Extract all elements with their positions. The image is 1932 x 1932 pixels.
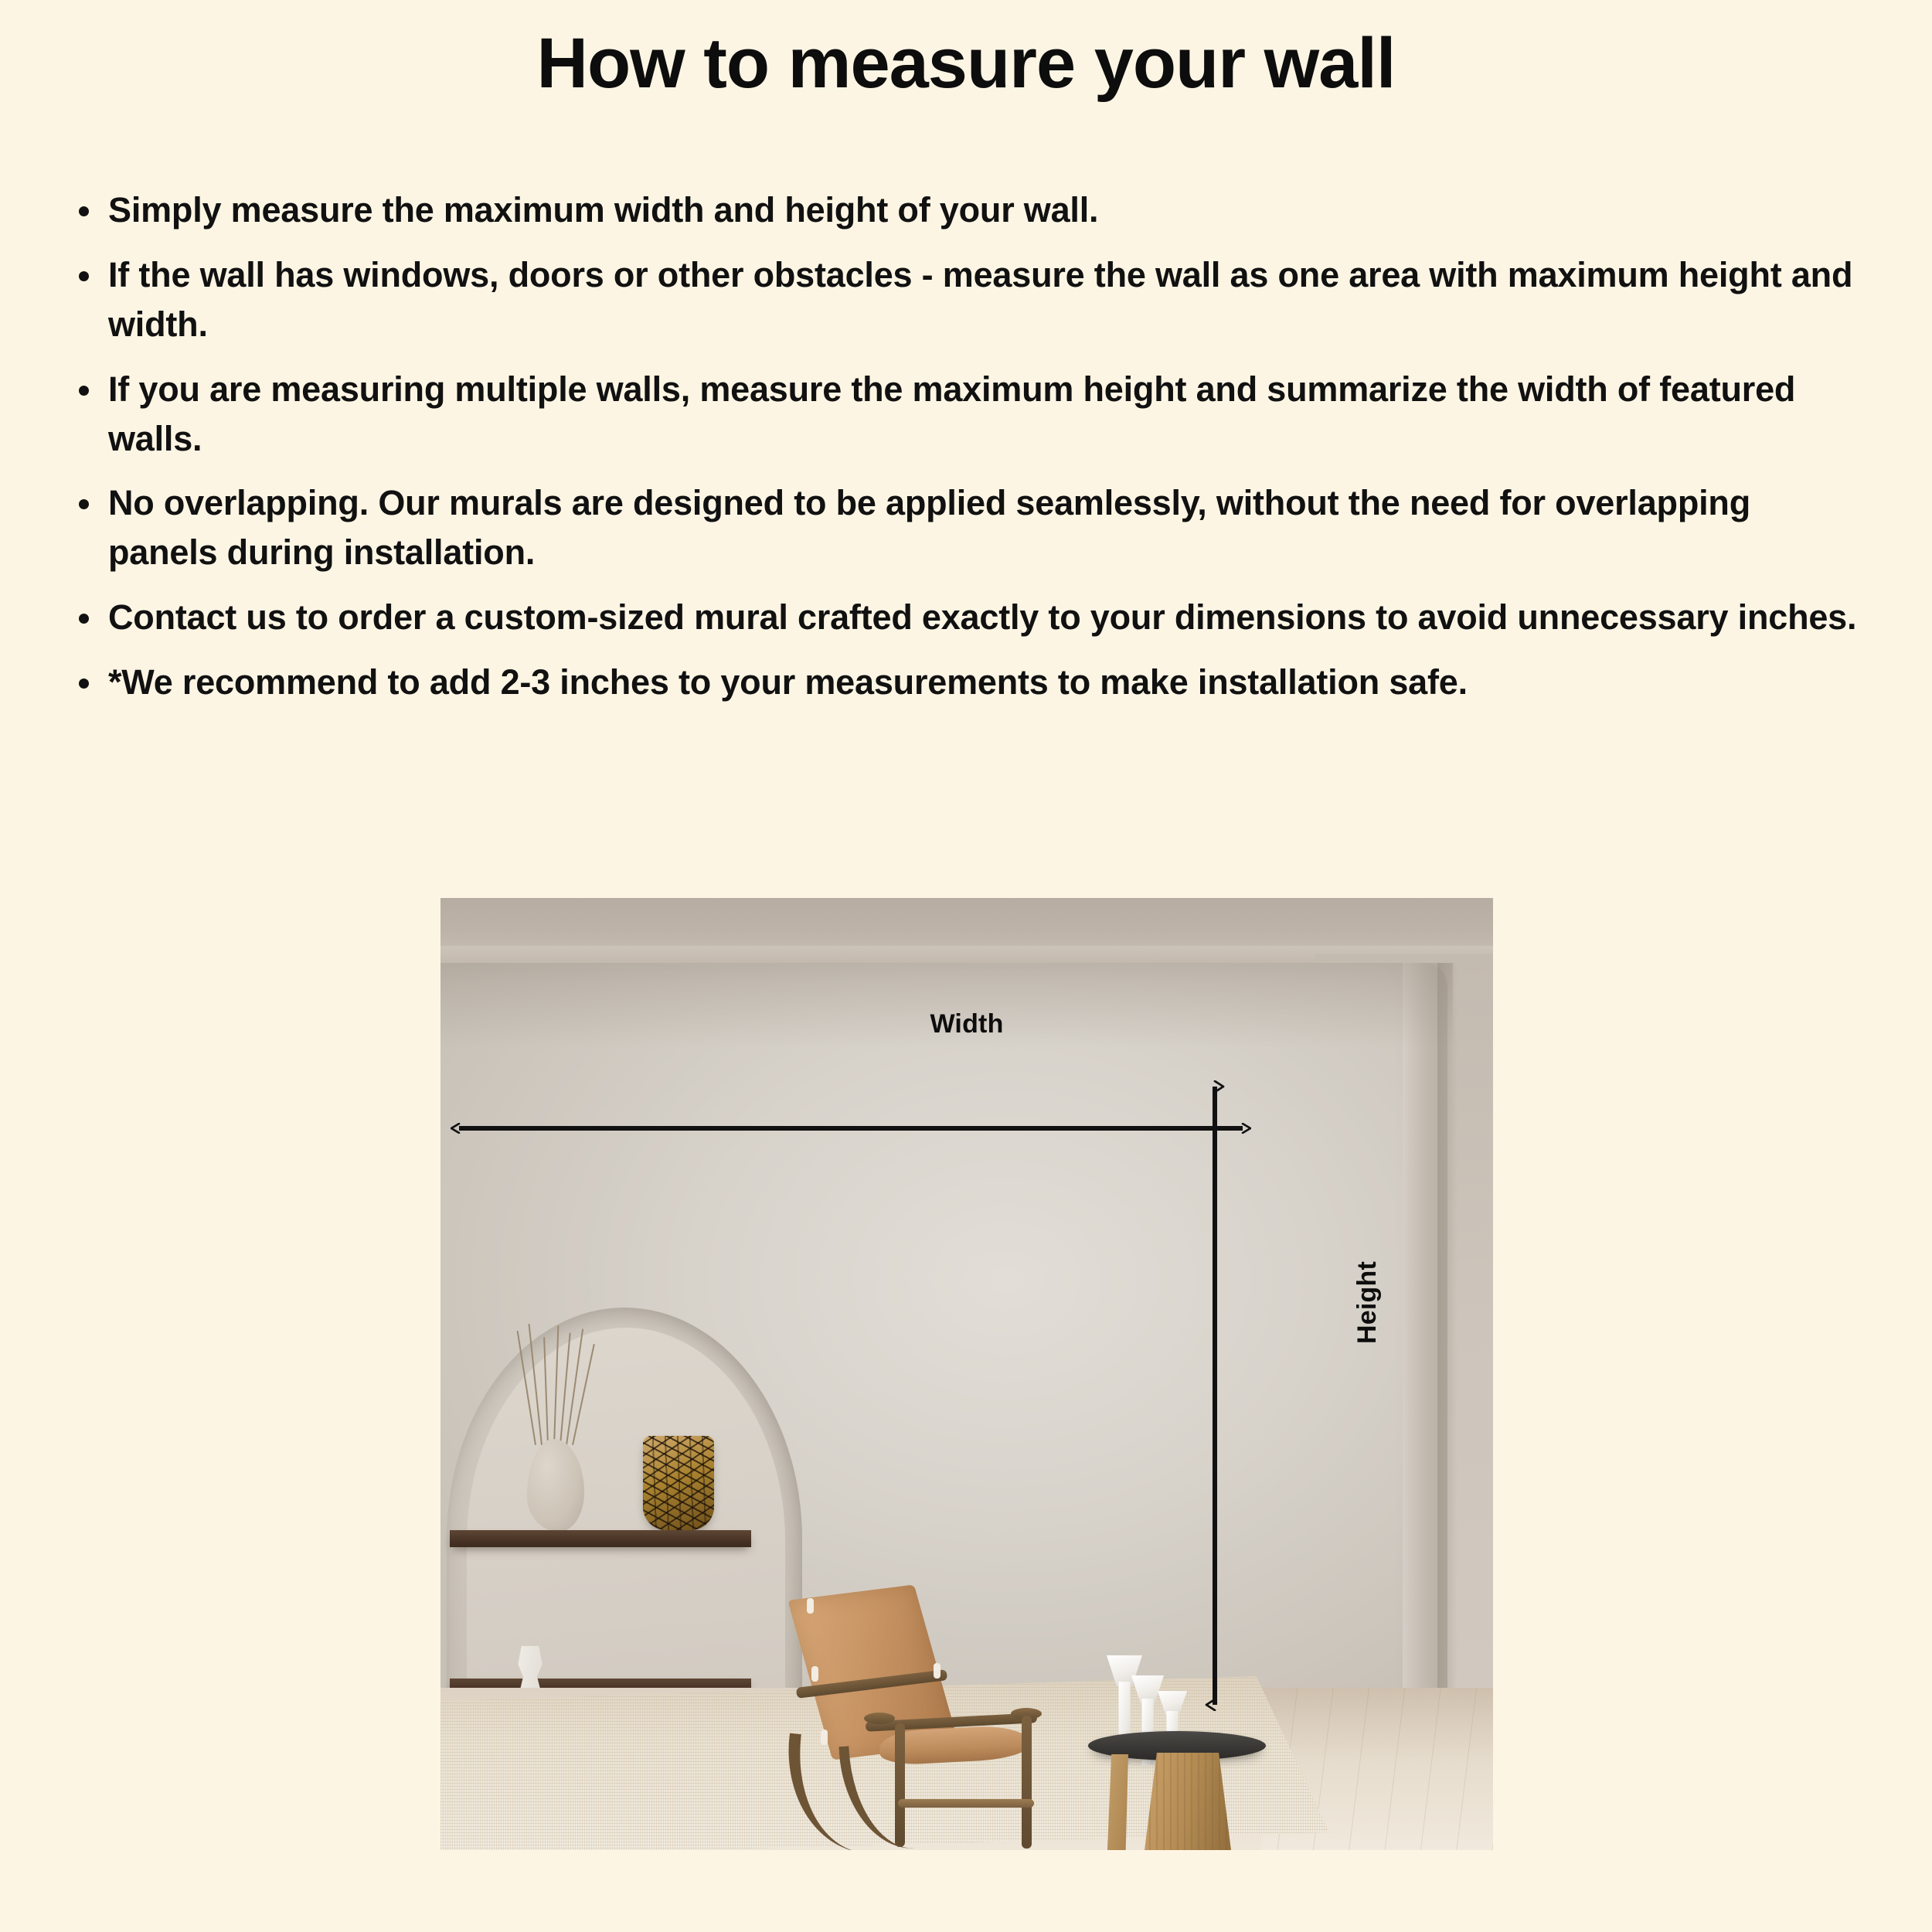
wall-top-shadow — [440, 963, 1453, 1048]
list-item: If the wall has windows, doors or other … — [68, 250, 1869, 349]
dried-reeds — [532, 1321, 586, 1445]
wall-measurement-photo: Width Height — [440, 898, 1493, 1850]
list-item: *We recommend to add 2-3 inches to your … — [68, 658, 1869, 707]
page-title: How to measure your wall — [0, 23, 1932, 105]
chair-arm-knob-front — [864, 1713, 895, 1724]
chair-strap-wrap — [821, 1730, 828, 1745]
instruction-list: Simply measure the maximum width and hei… — [68, 185, 1869, 723]
round-side-table — [1088, 1688, 1266, 1850]
chair-strap-wrap — [811, 1666, 818, 1682]
shelf-upper — [450, 1530, 751, 1547]
side-table-base — [1142, 1753, 1233, 1850]
woven-basket — [643, 1436, 714, 1530]
room-scene-illustration — [440, 898, 1493, 1850]
list-item: Simply measure the maximum width and hei… — [68, 185, 1869, 235]
list-item: Contact us to order a custom-sized mural… — [68, 593, 1869, 642]
leather-sling-chair — [750, 1592, 1059, 1847]
wall-corner-shadow — [1437, 963, 1458, 1798]
list-item: If you are measuring multiple walls, mea… — [68, 365, 1869, 464]
chair-strap-wrap — [807, 1598, 814, 1614]
page-root: How to measure your wall Simply measure … — [0, 0, 1932, 1932]
chair-leg-back — [1022, 1716, 1032, 1849]
side-table-leg — [1107, 1754, 1128, 1850]
chair-strap-wrap — [934, 1663, 940, 1679]
list-item: No overlapping. Our murals are designed … — [68, 478, 1869, 577]
